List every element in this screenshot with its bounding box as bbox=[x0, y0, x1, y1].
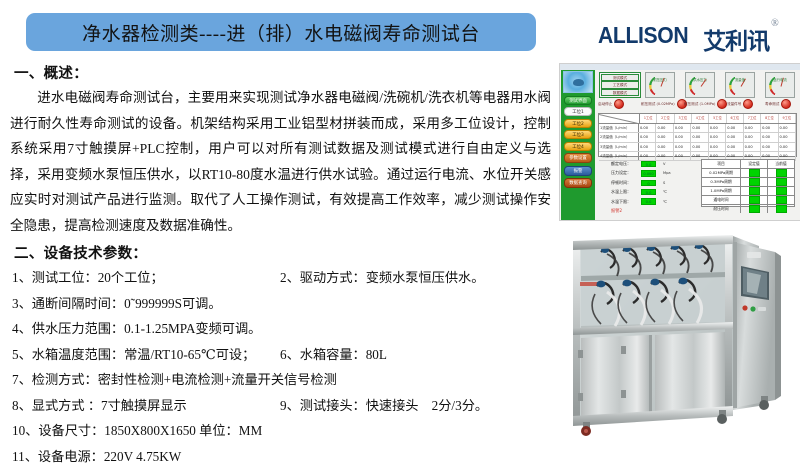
table-header-row: 1工位 2工位 3工位 4工位 5工位 6工位 7工位 8工位 9工位 bbox=[599, 114, 796, 124]
spec-left: 8、显式方式 ：7寸触摸屏显示 bbox=[12, 393, 280, 419]
table-cell: 0.00 bbox=[779, 143, 796, 151]
hmi-setting-table: 项目 设定值 当前值 0.02MPa周期 0.3MPa周期 1.0MPa周期 bbox=[701, 159, 795, 207]
hmi-mode-button-test[interactable]: 测试模式 bbox=[601, 74, 639, 81]
param-label: 额定电压： bbox=[611, 161, 641, 167]
table-cell: 0.00 bbox=[674, 152, 691, 160]
table-cell: 0.00 bbox=[656, 152, 673, 160]
table-cell: 0.00 bbox=[779, 124, 796, 132]
hmi-gauge-label: 供水压力 bbox=[686, 77, 714, 82]
table-row-label: 3流量值（L/min） bbox=[599, 143, 639, 151]
hmi-parameter-list: 额定电压： 0.0 V 压力设定： 0.000 Mpa 停顿时间： 0 S 水温… bbox=[611, 160, 696, 214]
slide-page: 净水器检测类----进（排）水电磁阀寿命测试台 ALLISON 艾利讯 ® 一、… bbox=[0, 0, 800, 450]
table-row-label: 1.0MPa周期 bbox=[702, 187, 741, 195]
spec-left: 4、供水压力范围：0.1-1.25MPA变频可调。 bbox=[12, 316, 280, 342]
content-text-column: 一、概述： 进水电磁阀寿命测试台，主要用来实现测试净水器电磁阀/洗碗机/洗衣机等… bbox=[10, 62, 555, 469]
table-col-header: 当前值 bbox=[768, 160, 794, 168]
spec-row: 7、检测方式：密封性检测+电流检测+流量开关信号检测 bbox=[12, 367, 555, 393]
hmi-indicator-life-test[interactable]: 寿命测试 bbox=[765, 99, 791, 109]
param-value-field[interactable]: 0.0 bbox=[641, 161, 656, 168]
spec-left: 7、检测方式：密封性检测+电流检测+流量开关信号检测 bbox=[12, 367, 280, 393]
overview-heading: 一、概述： bbox=[14, 62, 555, 83]
hmi-indicator-pressure-002[interactable]: 耐压测试 (0.02MPa) bbox=[641, 99, 687, 109]
table-col-header: 1工位 bbox=[640, 114, 657, 123]
param-label: 水温上限： bbox=[611, 189, 641, 195]
hmi-sidebar-item-station1[interactable]: 工位1 bbox=[564, 107, 592, 116]
table-col-header: 5工位 bbox=[709, 114, 726, 123]
table-cell: 0.00 bbox=[761, 143, 778, 151]
lamp-icon bbox=[743, 99, 753, 109]
param-value-field[interactable]: 0.0 bbox=[641, 198, 656, 205]
table-row-label: 4流量值（L/min） bbox=[599, 152, 639, 160]
table-row: 耐压时间 bbox=[702, 205, 794, 213]
page-title: 净水器检测类----进（排）水电磁阀寿命测试台 bbox=[82, 19, 480, 46]
table-row: 1.0MPa周期 bbox=[702, 187, 794, 196]
table-cell: 0.00 bbox=[744, 133, 761, 141]
hmi-param-water-temp-upper: 水温上限： 0.0 ℃ bbox=[611, 188, 696, 196]
hmi-indicator-flow[interactable]: 流量件号 bbox=[727, 99, 753, 109]
table-cell: 0.00 bbox=[709, 124, 726, 132]
table-cell-current bbox=[768, 205, 794, 213]
hmi-sidebar-item-station3[interactable]: 工位3 bbox=[564, 130, 592, 139]
table-cell-setpoint[interactable] bbox=[741, 205, 768, 213]
hmi-mode-button-process[interactable]: 工艺模式 bbox=[601, 81, 639, 88]
table-cell-setpoint[interactable] bbox=[741, 196, 768, 204]
brand-logo: ALLISON 艾利讯 ® bbox=[598, 22, 779, 56]
spec-row: 1、测试工位：20个工位； 2、驱动方式：变频水泵恒压供水。 bbox=[12, 265, 555, 291]
table-cell-setpoint[interactable] bbox=[741, 169, 768, 177]
table-cell: 0.00 bbox=[639, 152, 656, 160]
hmi-gauge-current: 运行电流 bbox=[765, 72, 795, 98]
lamp-icon bbox=[717, 99, 727, 109]
value-box bbox=[749, 196, 760, 204]
spec-right: 9、测试接头：快速接头 2分/3分。 bbox=[280, 393, 488, 419]
hmi-gauge-group: 耐压压力 供水压力 流量值 运行电流 bbox=[645, 72, 797, 98]
hmi-gauge-supply-pressure: 供水压力 bbox=[685, 72, 715, 98]
value-box bbox=[776, 169, 787, 177]
hmi-sidebar-item-station4[interactable]: 工位4 bbox=[564, 142, 592, 151]
hmi-param-pressure-setpoint: 压力设定： 0.000 Mpa bbox=[611, 169, 696, 177]
spec-row: 5、水箱温度范围：常温/RT10-65℃可设； 6、水箱容量：80L bbox=[12, 342, 555, 368]
spec-left: 10、设备尺寸：1850X800X1650 单位：MM bbox=[12, 418, 280, 444]
hmi-indicator-label: 启动停止 bbox=[598, 102, 612, 107]
spec-row: 3、通断间隔时间：0˜999999S可调。 bbox=[12, 291, 555, 317]
spec-row: 10、设备尺寸：1850X800X1650 单位：MM bbox=[12, 418, 555, 444]
value-box bbox=[749, 187, 760, 195]
table-row-label: 通电时间 bbox=[702, 196, 741, 204]
table-cell: 0.00 bbox=[674, 133, 691, 141]
hmi-param-rated-voltage: 额定电压： 0.0 V bbox=[611, 160, 696, 168]
table-row: 通电时间 bbox=[702, 196, 794, 205]
hmi-indicator-pressure-10[interactable]: 耐压测试 (1.0MPa) bbox=[684, 99, 727, 109]
value-box bbox=[749, 205, 760, 213]
table-row: 1流量值（L/min） 0.00 0.00 0.00 0.00 0.00 0.0… bbox=[599, 124, 796, 133]
table-cell: 0.00 bbox=[709, 143, 726, 151]
table-cell: 0.00 bbox=[726, 124, 743, 132]
param-value-field[interactable]: 0.000 bbox=[641, 170, 656, 177]
table-cell: 0.00 bbox=[726, 143, 743, 151]
param-label: 停顿时间： bbox=[611, 180, 641, 186]
table-cell: 0.00 bbox=[709, 133, 726, 141]
hmi-mode-button-data[interactable]: 数据模式 bbox=[601, 89, 639, 96]
hmi-indicator-start-stop[interactable]: 启动停止 bbox=[598, 99, 624, 109]
table-row: 0.3MPa周期 bbox=[702, 178, 794, 187]
spec-row: 8、显式方式 ：7寸触摸屏显示 9、测试接头：快速接头 2分/3分。 bbox=[12, 393, 555, 419]
hmi-mode-button-group: 测试模式 工艺模式 数据模式 bbox=[599, 72, 641, 98]
machine-illustration bbox=[561, 228, 799, 446]
table-cell: 0.00 bbox=[656, 133, 673, 141]
table-cell: 0.00 bbox=[674, 143, 691, 151]
table-row: 0.02MPa周期 bbox=[702, 169, 794, 178]
spec-left: 3、通断间隔时间：0˜999999S可调。 bbox=[12, 291, 280, 317]
title-banner: 净水器检测类----进（排）水电磁阀寿命测试台 bbox=[26, 13, 536, 51]
table-row: 3流量值（L/min） 0.00 0.00 0.00 0.00 0.00 0.0… bbox=[599, 143, 796, 152]
hmi-sidebar-title: 测试界面 bbox=[564, 96, 592, 105]
table-cell: 0.00 bbox=[761, 133, 778, 141]
hmi-indicator-label: 流量件号 bbox=[727, 102, 741, 107]
param-value-field[interactable]: 0.0 bbox=[641, 189, 656, 196]
table-header-row: 项目 设定值 当前值 bbox=[702, 160, 794, 169]
table-row-label: 1流量值（L/min） bbox=[599, 124, 639, 132]
spec-left: 11、设备电源：220V 4.75KW bbox=[12, 444, 280, 469]
table-row-label: 0.3MPa周期 bbox=[702, 178, 741, 186]
hmi-indicator-label: 耐压测试 (0.02MPa) bbox=[641, 102, 675, 107]
spec-left: 1、测试工位：20个工位； bbox=[12, 265, 280, 291]
logo-text-cn: 艾利讯 bbox=[703, 22, 769, 56]
table-col-header: 7工位 bbox=[744, 114, 761, 123]
overview-paragraph: 进水电磁阀寿命测试台，主要用来实现测试净水器电磁阀/洗碗机/洗衣机等电器用水阀进… bbox=[10, 85, 555, 238]
hmi-sidebar-item-alarm[interactable]: 报警 bbox=[564, 166, 592, 176]
table-cell-setpoint[interactable] bbox=[741, 178, 768, 186]
table-col-header: 项目 bbox=[702, 160, 741, 168]
table-cell-current bbox=[768, 196, 794, 204]
table-cell: 0.00 bbox=[639, 143, 656, 151]
table-row-label: 2流量值（L/min） bbox=[599, 133, 639, 141]
spec-right: 6、水箱容量：80L bbox=[280, 342, 387, 368]
hmi-gauge-label: 流量值 bbox=[726, 77, 754, 82]
param-unit: S bbox=[663, 181, 665, 185]
lamp-icon bbox=[614, 99, 624, 109]
table-cell: 0.00 bbox=[726, 133, 743, 141]
table-cell: 0.00 bbox=[691, 124, 708, 132]
table-cell: 0.00 bbox=[744, 143, 761, 151]
param-label: 水温下限： bbox=[611, 199, 641, 205]
table-cell-current bbox=[768, 178, 794, 186]
table-cell: 0.00 bbox=[744, 124, 761, 132]
lamp-icon bbox=[781, 99, 791, 109]
table-cell-current bbox=[768, 187, 794, 195]
hmi-product-image bbox=[563, 71, 593, 93]
value-box bbox=[776, 178, 787, 186]
hmi-indicator-label: 寿命测试 bbox=[765, 102, 779, 107]
table-cell: 0.00 bbox=[656, 143, 673, 151]
table-row: 2流量值（L/min） 0.00 0.00 0.00 0.00 0.00 0.0… bbox=[599, 133, 796, 142]
hmi-data-table: 1工位 2工位 3工位 4工位 5工位 6工位 7工位 8工位 9工位 1流量值… bbox=[598, 113, 797, 157]
spec-left: 5、水箱温度范围：常温/RT10-65℃可设； bbox=[12, 342, 280, 368]
logo-text-en: ALLISON bbox=[598, 22, 688, 49]
hmi-main-area: 测试模式 工艺模式 数据模式 耐压压力 供水压力 流量值 bbox=[597, 71, 798, 219]
value-box bbox=[776, 196, 787, 204]
hmi-gauge-label: 运行电流 bbox=[766, 77, 794, 82]
table-col-header: 4工位 bbox=[692, 114, 709, 123]
table-cell: 0.00 bbox=[691, 133, 708, 141]
param-unit: V bbox=[663, 162, 665, 166]
table-cell-current bbox=[768, 169, 794, 177]
table-cell: 0.00 bbox=[779, 133, 796, 141]
param-value-field[interactable]: 0 bbox=[641, 180, 656, 187]
table-col-header: 2工位 bbox=[657, 114, 674, 123]
param-unit: ℃ bbox=[663, 190, 667, 194]
hmi-gauge-pressure-test: 耐压压力 bbox=[645, 72, 675, 98]
value-box bbox=[749, 178, 760, 186]
table-cell: 0.00 bbox=[761, 124, 778, 132]
parameters-heading: 二、设备技术参数： bbox=[14, 242, 555, 263]
hmi-indicator-label: 耐压测试 (1.0MPa) bbox=[684, 102, 715, 107]
hmi-screenshot: 测试界面 工位1 工位2 工位3 工位4 参数设置 报警 数据查询 测试模式 工… bbox=[559, 63, 800, 221]
table-row-label: 耐压时间 bbox=[702, 205, 741, 213]
registered-trademark-icon: ® bbox=[771, 18, 779, 29]
param-unit: ℃ bbox=[663, 200, 667, 204]
table-cell: 0.00 bbox=[691, 143, 708, 151]
value-box bbox=[776, 205, 787, 213]
table-col-header: 6工位 bbox=[727, 114, 744, 123]
table-col-header: 3工位 bbox=[675, 114, 692, 123]
hmi-sidebar-item-station2[interactable]: 工位2 bbox=[564, 119, 592, 128]
hmi-gauge-flow: 流量值 bbox=[725, 72, 755, 98]
value-box bbox=[776, 187, 787, 195]
hmi-indicator-group: 启动停止 耐压测试 (0.02MPa) 耐压测试 (1.0MPa) 流量件号 寿… bbox=[597, 99, 798, 112]
param-label: 压力设定： bbox=[611, 170, 641, 176]
hmi-sidebar-item-settings[interactable]: 参数设置 bbox=[564, 153, 592, 163]
value-box bbox=[749, 169, 760, 177]
table-corner-cell bbox=[599, 114, 640, 123]
spec-row: 11、设备电源：220V 4.75KW bbox=[12, 444, 555, 469]
table-cell: 0.00 bbox=[656, 124, 673, 132]
param-unit: Mpa bbox=[663, 171, 671, 175]
hmi-alarm-text: 报警2 bbox=[611, 208, 696, 214]
table-cell: 0.00 bbox=[639, 124, 656, 132]
hmi-gauge-label: 耐压压力 bbox=[646, 77, 674, 82]
table-col-header: 8工位 bbox=[761, 114, 778, 123]
table-cell: 0.00 bbox=[674, 124, 691, 132]
spec-right: 2、驱动方式：变频水泵恒压供水。 bbox=[280, 265, 484, 291]
table-row-label: 0.02MPa周期 bbox=[702, 169, 741, 177]
equipment-photo bbox=[561, 228, 799, 446]
hmi-sidebar: 测试界面 工位1 工位2 工位3 工位4 参数设置 报警 数据查询 bbox=[561, 70, 595, 220]
hmi-sidebar-item-data-query[interactable]: 数据查询 bbox=[564, 178, 592, 188]
hmi-param-pause-time: 停顿时间： 0 S bbox=[611, 179, 696, 187]
spec-list: 1、测试工位：20个工位； 2、驱动方式：变频水泵恒压供水。 3、通断间隔时间：… bbox=[12, 265, 555, 469]
table-cell-setpoint[interactable] bbox=[741, 187, 768, 195]
table-col-header: 9工位 bbox=[779, 114, 796, 123]
table-col-header: 设定值 bbox=[741, 160, 768, 168]
hmi-titlebar bbox=[560, 64, 800, 70]
table-cell: 0.00 bbox=[639, 133, 656, 141]
spec-row: 4、供水压力范围：0.1-1.25MPA变频可调。 bbox=[12, 316, 555, 342]
hmi-param-water-temp-lower: 水温下限： 0.0 ℃ bbox=[611, 198, 696, 206]
